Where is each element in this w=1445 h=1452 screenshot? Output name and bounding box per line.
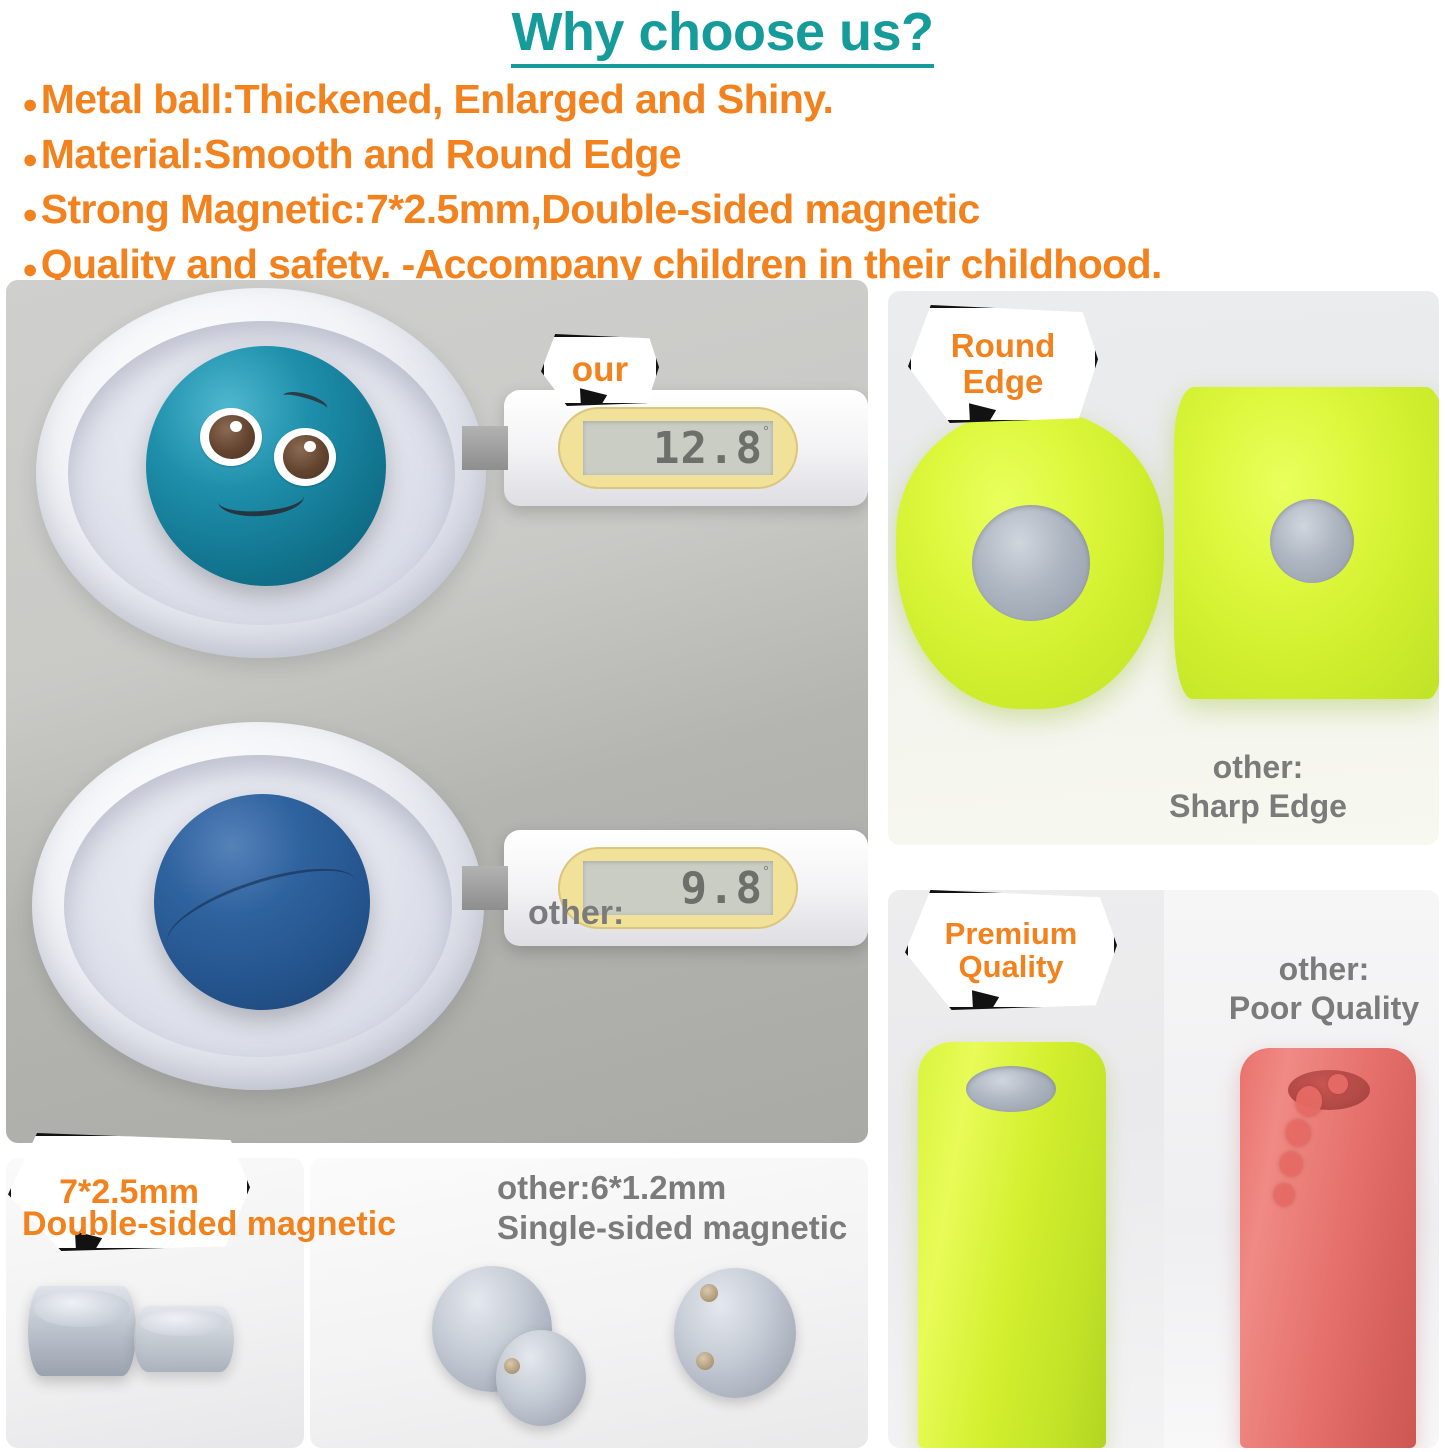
callout-premium-line1: Premium bbox=[945, 917, 1078, 950]
callout-premium-line2: Quality bbox=[958, 950, 1063, 983]
page-title: Why choose us? bbox=[0, 2, 1445, 68]
bullet-text: Strong Magnetic:7*2.5mm,Double-sided mag… bbox=[41, 182, 980, 237]
caption-other-magnet-line2: Single-sided magnetic bbox=[497, 1208, 847, 1248]
bullet-dot-icon: ● bbox=[22, 132, 38, 187]
magnet-other-disc-front bbox=[496, 1330, 586, 1426]
panel-ball-size-comparison: 12.8 ° 9.8 ° bbox=[6, 280, 868, 1143]
cylinder-our-round-edge bbox=[896, 409, 1164, 709]
ball-our bbox=[146, 346, 386, 586]
ball-other bbox=[154, 794, 370, 1010]
bowl-other bbox=[32, 722, 484, 1090]
burr-defect-icon bbox=[1296, 1086, 1322, 1116]
eye-right-icon bbox=[274, 428, 336, 486]
callout-round-edge-line2: Edge bbox=[963, 364, 1044, 400]
magnet-other-disc-large bbox=[674, 1268, 796, 1398]
caliper-jaw bbox=[462, 866, 508, 910]
magnet-top-premium bbox=[966, 1066, 1056, 1112]
eye-left-icon bbox=[200, 408, 262, 466]
callout-round-edge-line1: Round bbox=[951, 328, 1055, 364]
caliper-reading-our: 12.8 bbox=[653, 421, 763, 477]
cylinder-premium-quality bbox=[918, 1042, 1106, 1448]
magnet-pole-mark-icon bbox=[504, 1358, 520, 1374]
magnet-pole-mark-icon bbox=[700, 1284, 718, 1302]
caliper-lcd-screen: 12.8 ° bbox=[583, 421, 773, 475]
caption-sharp-edge-line2: Sharp Edge bbox=[1169, 787, 1347, 826]
caliper-reading-other: 9.8 bbox=[681, 861, 763, 917]
caption-sharp-edge: other: Sharp Edge bbox=[1169, 748, 1347, 826]
bowl-our bbox=[36, 288, 486, 658]
magnet-face-other bbox=[1270, 499, 1354, 583]
feature-bullet-list: ● Metal ball:Thickened, Enlarged and Shi… bbox=[22, 72, 1442, 292]
list-item: ● Metal ball:Thickened, Enlarged and Shi… bbox=[22, 72, 1442, 127]
page-title-text: Why choose us? bbox=[511, 2, 933, 68]
caliper-jaw bbox=[462, 426, 508, 470]
magnet-pole-mark-icon bbox=[696, 1352, 714, 1370]
bullet-text: Material:Smooth and Round Edge bbox=[41, 127, 681, 182]
infographic-root: Why choose us? ● Metal ball:Thickened, E… bbox=[0, 0, 1445, 1452]
bullet-text: Metal ball:Thickened, Enlarged and Shiny… bbox=[41, 72, 834, 127]
list-item: ● Material:Smooth and Round Edge bbox=[22, 127, 1442, 182]
caliper-unit-our: ° bbox=[763, 423, 769, 440]
burr-defect-icon bbox=[1286, 1120, 1310, 1146]
eyebrow-icon bbox=[281, 388, 330, 416]
our-ball-photo: 12.8 ° bbox=[6, 280, 868, 711]
caliper-lcd-bezel: 12.8 ° bbox=[558, 407, 798, 489]
caption-poor-quality-line2: Poor Quality bbox=[1229, 989, 1419, 1028]
header-section: Why choose us? ● Metal ball:Thickened, E… bbox=[0, 0, 1445, 276]
caliper-our: 12.8 ° bbox=[504, 390, 868, 506]
magnet-ours-second bbox=[134, 1306, 234, 1372]
callout-magnet-line2: Double-sided magnetic bbox=[22, 1205, 396, 1244]
caption-poor-quality-line1: other: bbox=[1229, 950, 1419, 989]
burr-defect-icon bbox=[1274, 1184, 1294, 1206]
burr-defect-icon bbox=[1280, 1152, 1302, 1176]
magnet-ours-thick bbox=[28, 1286, 136, 1376]
cylinder-poor-quality bbox=[1240, 1048, 1416, 1448]
other-ball-photo: 9.8 ° bbox=[6, 712, 868, 1143]
list-item: ● Strong Magnetic:7*2.5mm,Double-sided m… bbox=[22, 182, 1442, 237]
bullet-dot-icon: ● bbox=[22, 187, 38, 242]
bullet-dot-icon: ● bbox=[22, 77, 38, 132]
magnet-face-our bbox=[972, 505, 1090, 621]
caption-other-magnet: other:6*1.2mm Single-sided magnetic bbox=[497, 1168, 847, 1249]
callout-our-label: our bbox=[572, 351, 628, 389]
ball-seam-line bbox=[157, 851, 366, 974]
caption-sharp-edge-line1: other: bbox=[1169, 748, 1347, 787]
cylinder-other-sharp-edge bbox=[1174, 387, 1439, 699]
mouth-icon bbox=[217, 479, 305, 519]
caption-other-magnet-line1: other:6*1.2mm bbox=[497, 1168, 847, 1208]
burr-defect-icon bbox=[1328, 1074, 1348, 1094]
caption-poor-quality: other: Poor Quality bbox=[1229, 950, 1419, 1028]
caption-other-caliper: other: bbox=[528, 893, 624, 934]
caliper-unit-other: ° bbox=[763, 863, 769, 880]
